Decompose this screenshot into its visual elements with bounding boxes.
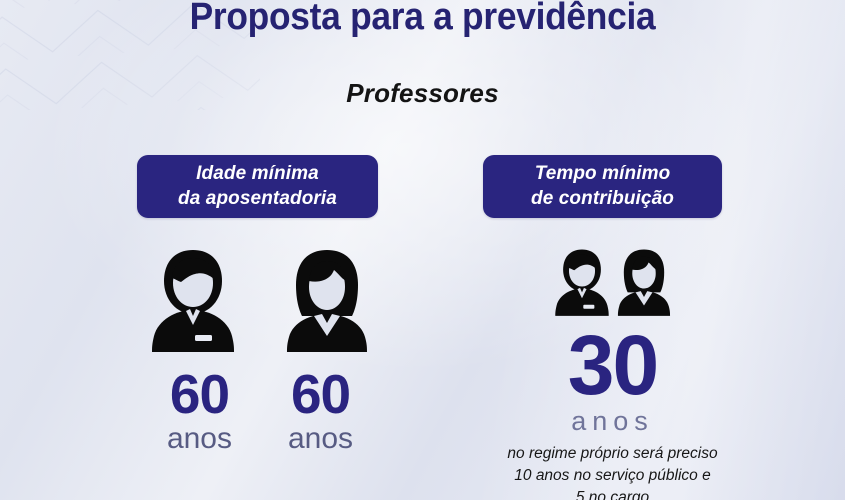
avatar-row-right xyxy=(470,248,755,316)
column-idade-minima: 60 anos 60 anos xyxy=(120,248,400,454)
stat-female-value: 60 xyxy=(288,368,353,420)
stat-female-unit: anos xyxy=(288,424,353,454)
infographic-canvas: Proposta para a previdência Professores … xyxy=(0,0,845,500)
badge-tempo-minimo-line1: Tempo mínimo xyxy=(531,162,674,186)
badge-tempo-minimo[interactable]: Tempo mínimo de contribuição xyxy=(483,155,722,218)
male-avatar-icon xyxy=(554,248,610,316)
page-subtitle: Professores xyxy=(0,78,845,109)
stat-female-idade: 60 anos xyxy=(288,368,353,454)
footnote-line1: no regime próprio será preciso xyxy=(470,443,755,465)
stat-tempo-unit: anos xyxy=(470,408,755,435)
footnote-line3: 5 no cargo xyxy=(470,487,755,500)
stat-row-left: 60 anos 60 anos xyxy=(120,368,400,454)
footnote-line2: 10 anos no serviço público e xyxy=(470,465,755,487)
stat-tempo-contribuicao: 30 anos xyxy=(470,326,755,435)
badge-idade-minima-line1: Idade mínima xyxy=(178,162,337,186)
page-title: Proposta para a previdência xyxy=(30,0,816,39)
column-tempo-minimo: 30 anos no regime próprio será preciso 1… xyxy=(470,248,755,500)
stat-male-unit: anos xyxy=(167,424,232,454)
badge-idade-minima-line2: da aposentadoria xyxy=(178,187,337,211)
stat-male-value: 60 xyxy=(167,368,232,420)
footnote-tempo-minimo: no regime próprio será preciso 10 anos n… xyxy=(470,443,755,500)
badge-idade-minima[interactable]: Idade mínima da aposentadoria xyxy=(137,155,378,218)
female-avatar-icon xyxy=(616,248,672,316)
badge-tempo-minimo-line2: de contribuição xyxy=(531,187,674,211)
female-avatar-icon xyxy=(284,248,370,352)
avatar-row-left xyxy=(120,248,400,352)
stat-male-idade: 60 anos xyxy=(167,368,232,454)
stat-tempo-value: 30 xyxy=(470,326,755,406)
male-avatar-icon xyxy=(150,248,236,352)
